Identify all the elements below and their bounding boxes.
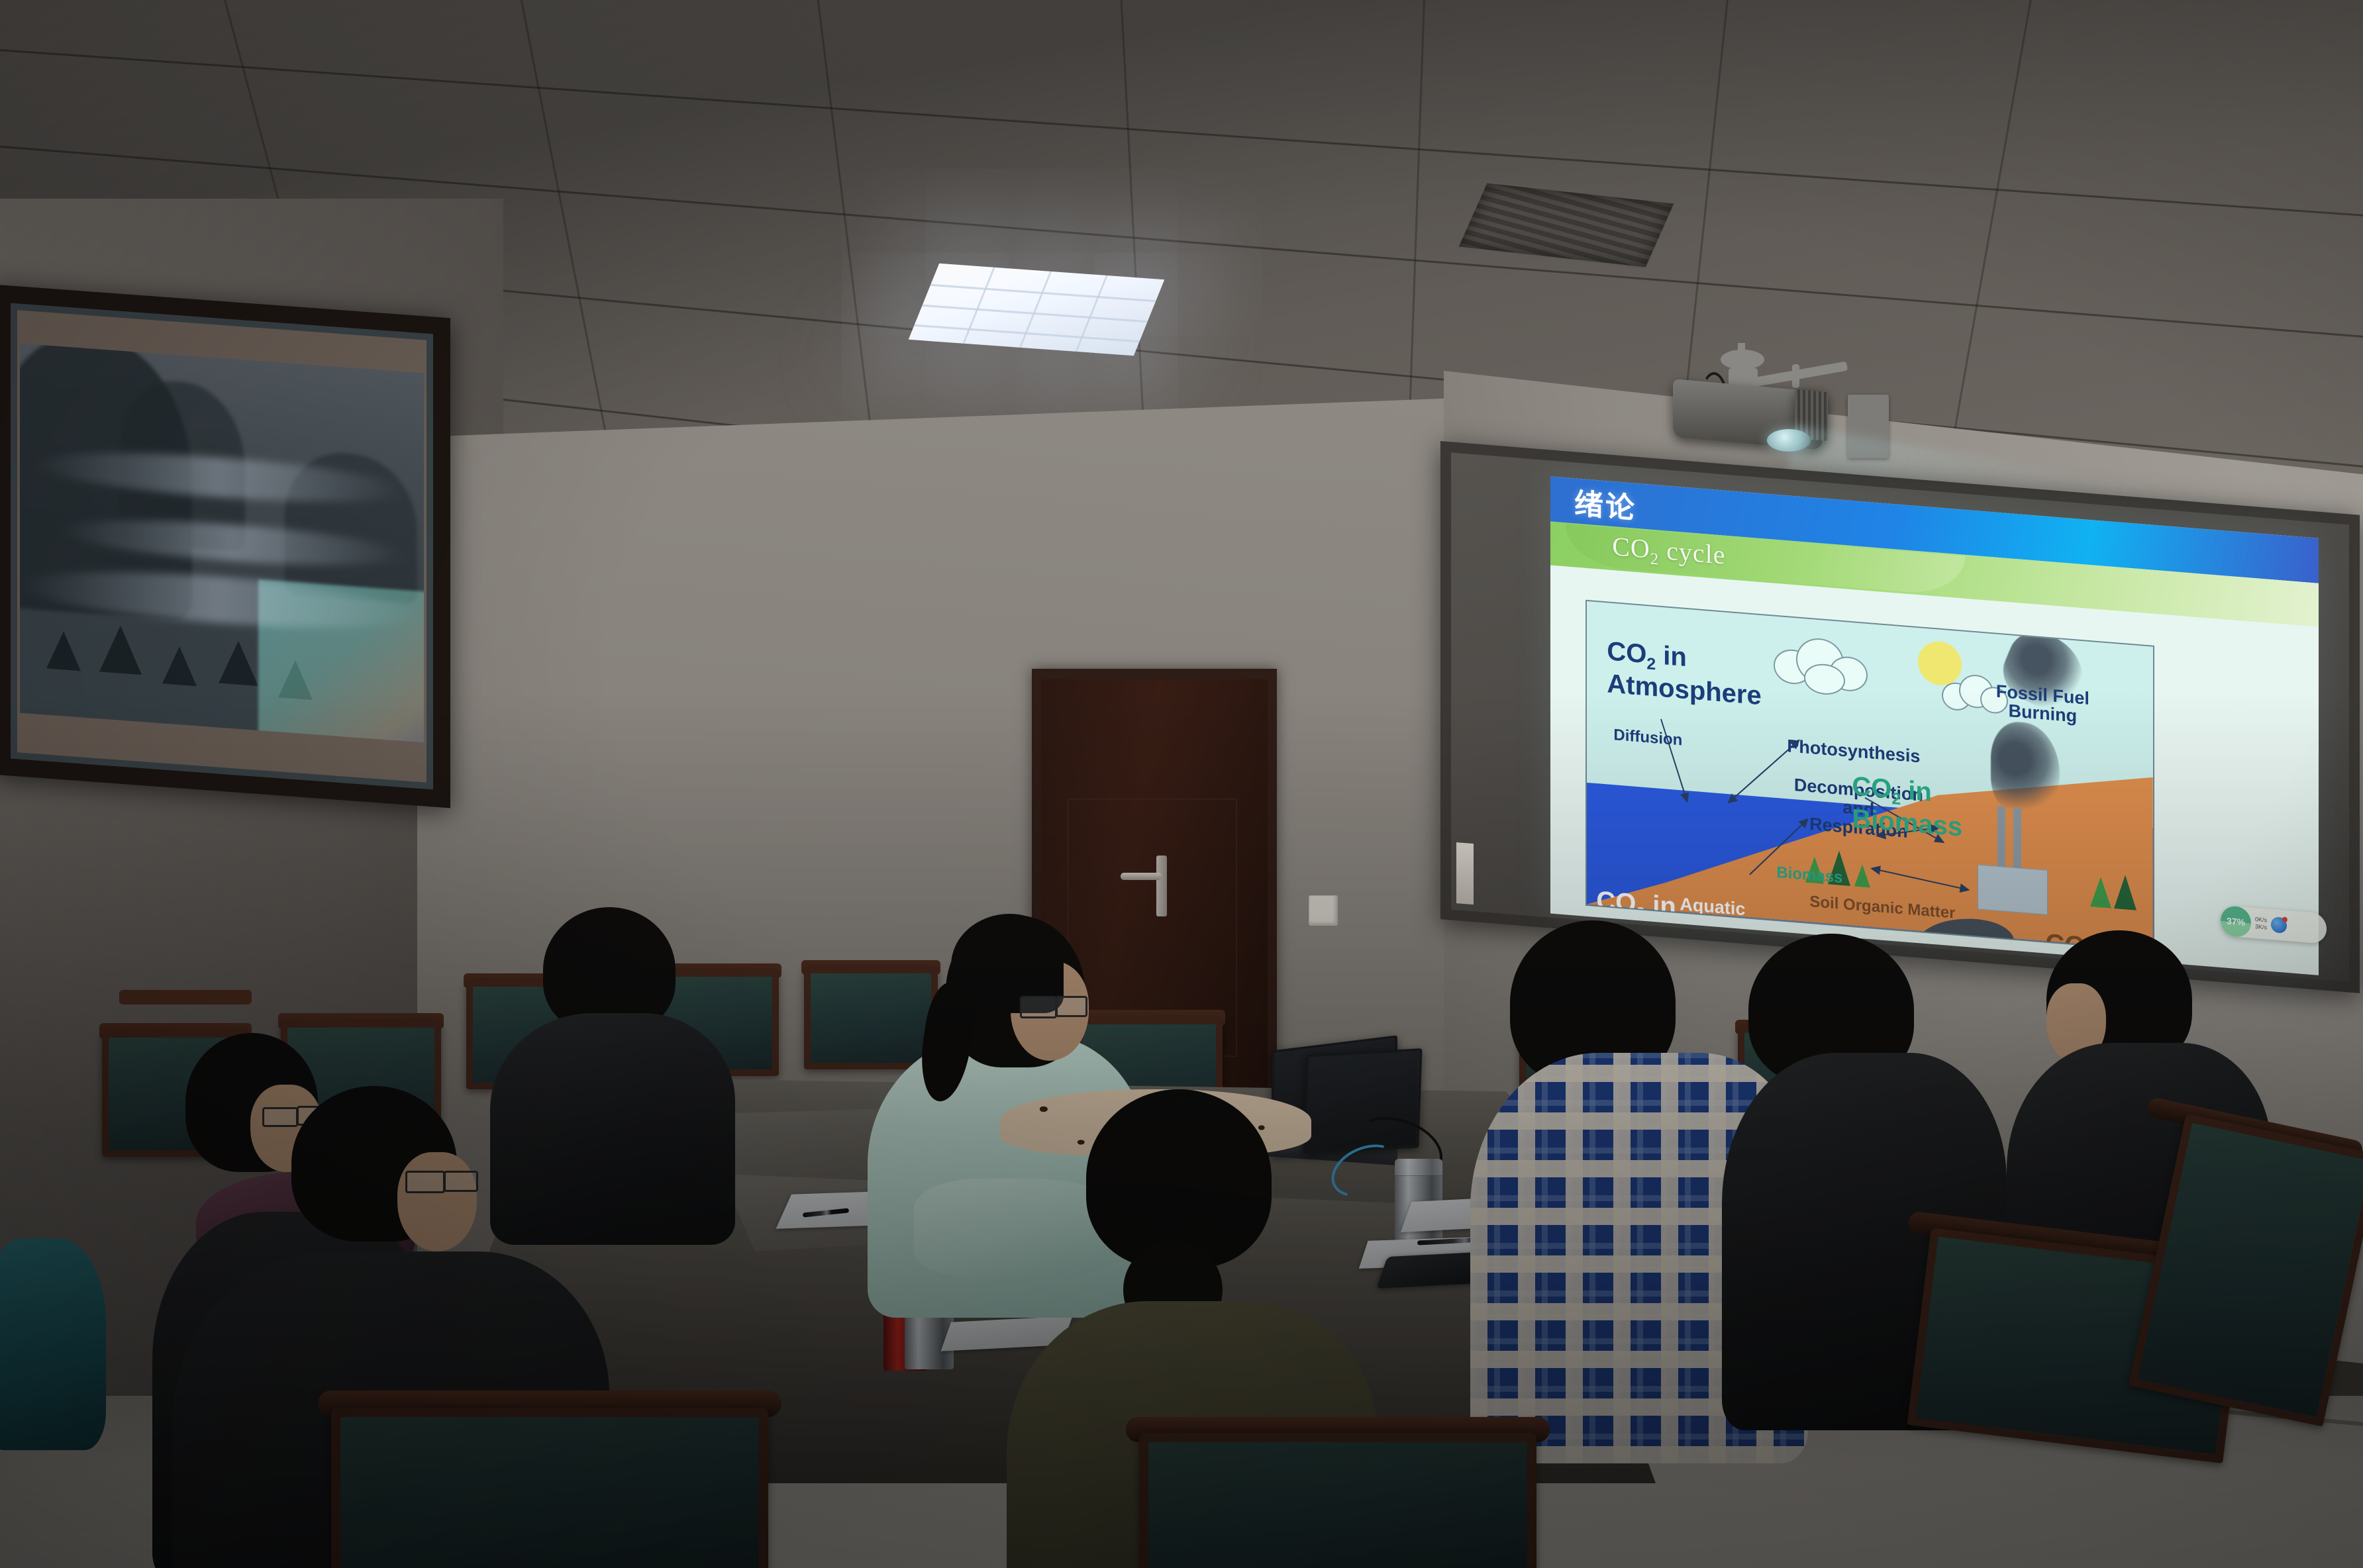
projected-slide: 绪论 CO2 cycle <box>1550 477 2319 975</box>
co2-cycle-figure: CO2 in Atmosphere Diffusion Photosynthes… <box>1585 599 2154 951</box>
tree-icon <box>2114 874 2137 910</box>
door-lever[interactable] <box>1121 873 1162 880</box>
projector-reflection <box>258 579 424 742</box>
attendee-glasses <box>405 1171 445 1193</box>
chimney-pipe <box>2013 807 2021 871</box>
transfer-rates: 0K/s 3K/s <box>2255 916 2267 932</box>
door-handle[interactable] <box>1156 856 1167 916</box>
chimney-pipe <box>1997 806 2005 870</box>
tree-icon <box>2090 876 2111 908</box>
label-co2-atmosphere: CO2 in Atmosphere <box>1607 637 1761 710</box>
attendee-glasses <box>262 1107 298 1127</box>
conference-room-photo: 绪论 CO2 cycle <box>0 0 2363 1568</box>
attendee-body <box>490 1013 735 1245</box>
slide-header-title: 绪论 <box>1574 479 1636 527</box>
cloud-icon <box>1774 630 1873 699</box>
factory-building <box>1978 864 2048 915</box>
attendee-center <box>1000 1089 1311 1155</box>
slide-section-title: CO2 cycle <box>1612 530 1725 575</box>
presenter-glasses <box>1020 996 1057 1018</box>
chinese-landscape-painting <box>0 285 450 808</box>
tree-icon <box>1854 863 1870 887</box>
wall-light-switch[interactable] <box>1309 895 1338 926</box>
label-co2-biomass: CO2 in Biomass <box>1852 772 1962 842</box>
recessed-fluorescent-panel <box>909 264 1165 356</box>
download-rate: 3K/s <box>2255 923 2267 932</box>
ceiling-air-vent <box>1457 181 1676 269</box>
app-logo-icon <box>2271 916 2287 934</box>
attendee-glasses <box>444 1171 478 1192</box>
presenter-glasses <box>1056 996 1087 1017</box>
projection-whiteboard: 绪论 CO2 cycle <box>1440 441 2360 993</box>
board-label-sticker <box>1456 842 1474 905</box>
teal-bag <box>0 1238 106 1450</box>
attendee-face <box>397 1152 477 1251</box>
